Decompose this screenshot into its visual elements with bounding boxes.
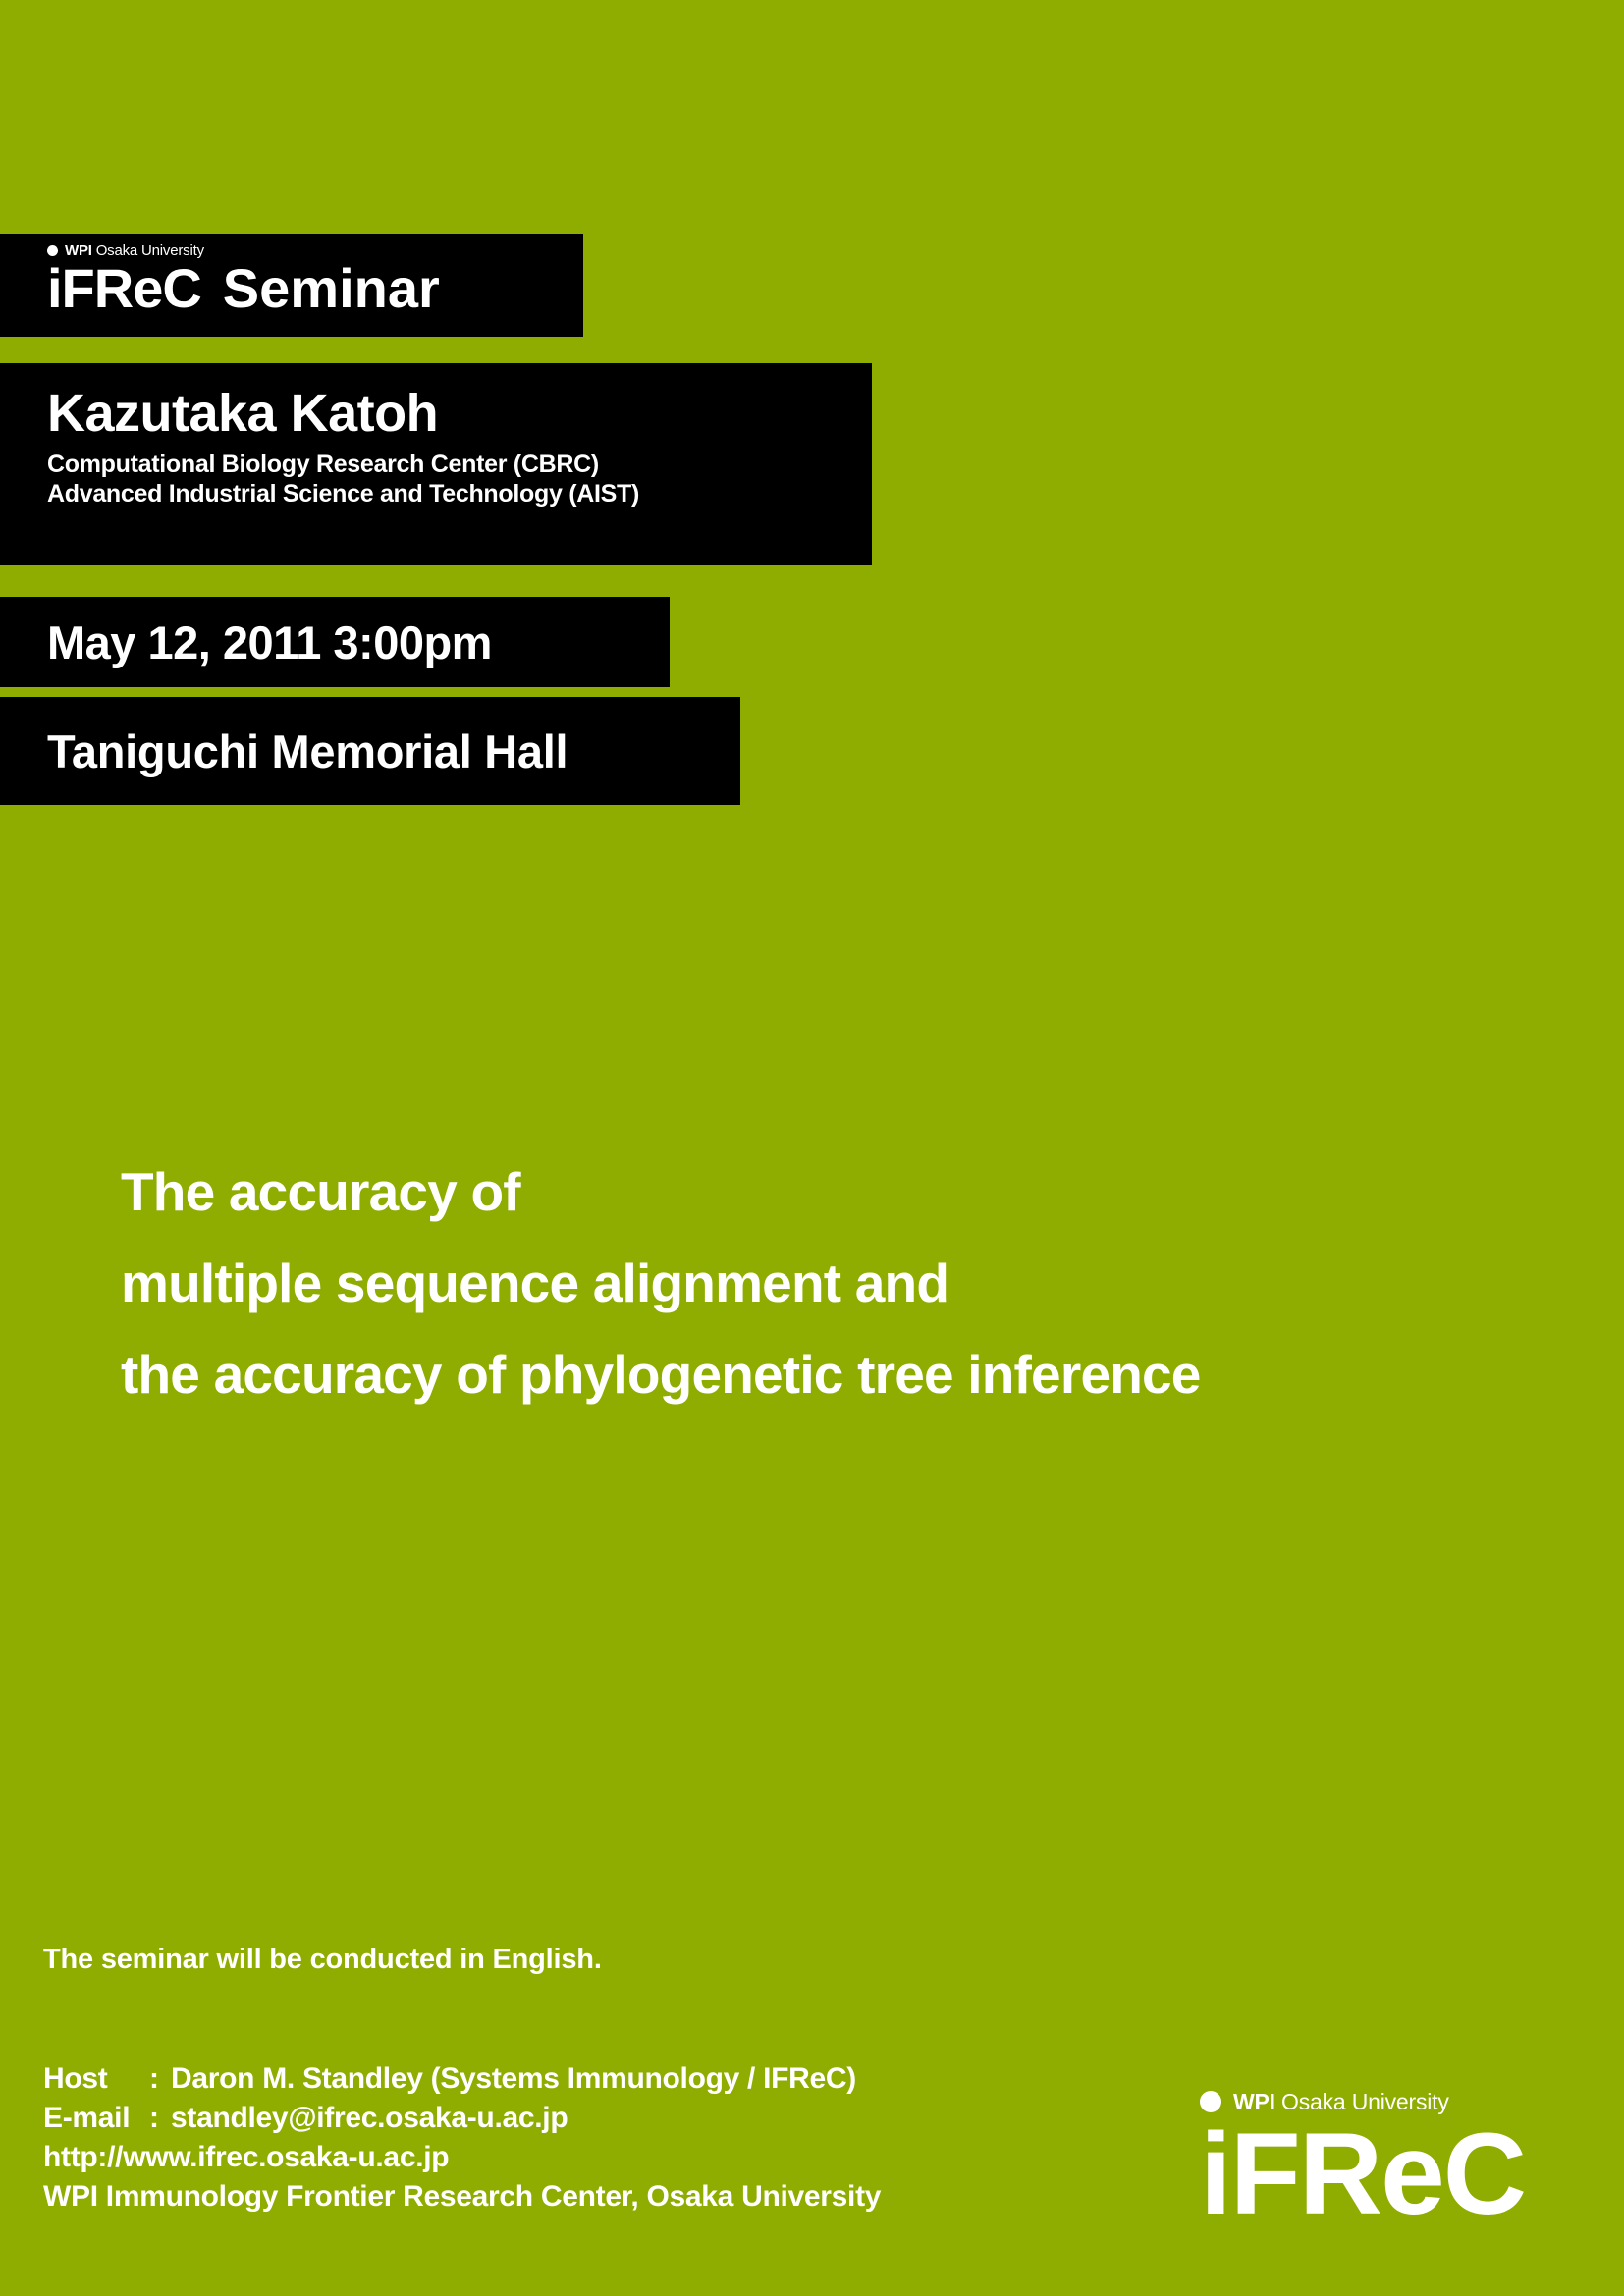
wpi-tag-regular: Osaka University	[92, 242, 204, 259]
event-datetime: May 12, 2011 3:00pm	[47, 619, 492, 666]
seminar-header-bar: WPI Osaka University iFReC Seminar	[0, 234, 583, 337]
website-url[interactable]: http://www.ifrec.osaka-u.ac.jp	[43, 2138, 881, 2177]
talk-title: The accuracy of multiple sequence alignm…	[121, 1147, 1544, 1420]
talk-title-line-2: multiple sequence alignment and	[121, 1238, 1544, 1329]
venue-bar: Taniguchi Memorial Hall	[0, 697, 740, 805]
language-notice: The seminar will be conducted in English…	[43, 1946, 602, 1974]
ifrec-wordmark: iFReC	[47, 260, 201, 317]
talk-title-line-1: The accuracy of	[121, 1147, 1544, 1238]
email-label: E-mail	[43, 2099, 149, 2138]
ifrec-brand-logo: WPI Osaka University iFReC	[1200, 2089, 1525, 2232]
talk-title-line-3: the accuracy of phylogenetic tree infere…	[121, 1329, 1544, 1420]
seminar-title-row: iFReC Seminar	[47, 260, 583, 317]
email-value[interactable]: standley@ifrec.osaka-u.ac.jp	[171, 2099, 568, 2138]
wpi-tag-text: WPI Osaka University	[65, 243, 204, 258]
contact-block: Host : Daron M. Standley (Systems Immuno…	[43, 2059, 881, 2216]
logo-ifrec-wordmark: iFReC	[1200, 2116, 1525, 2232]
date-bar: May 12, 2011 3:00pm	[0, 597, 670, 687]
speaker-affiliation-line-1: Computational Biology Research Center (C…	[47, 450, 872, 479]
host-separator: :	[149, 2059, 171, 2099]
email-row: E-mail : standley@ifrec.osaka-u.ac.jp	[43, 2099, 881, 2138]
speaker-affiliation-line-2: Advanced Industrial Science and Technolo…	[47, 479, 872, 508]
speaker-bar: Kazutaka Katoh Computational Biology Res…	[0, 363, 872, 565]
bullet-dot-icon	[47, 245, 58, 256]
speaker-name: Kazutaka Katoh	[47, 383, 872, 444]
host-value: Daron M. Standley (Systems Immunology / …	[171, 2059, 856, 2099]
organization-name: WPI Immunology Frontier Research Center,…	[43, 2177, 881, 2216]
host-label: Host	[43, 2059, 149, 2099]
seminar-label: Seminar	[223, 260, 440, 317]
host-row: Host : Daron M. Standley (Systems Immuno…	[43, 2059, 881, 2099]
seminar-poster: WPI Osaka University iFReC Seminar Kazut…	[0, 0, 1624, 2296]
email-separator: :	[149, 2099, 171, 2138]
event-venue: Taniguchi Memorial Hall	[47, 728, 568, 774]
wpi-tag-bold: WPI	[65, 242, 92, 259]
